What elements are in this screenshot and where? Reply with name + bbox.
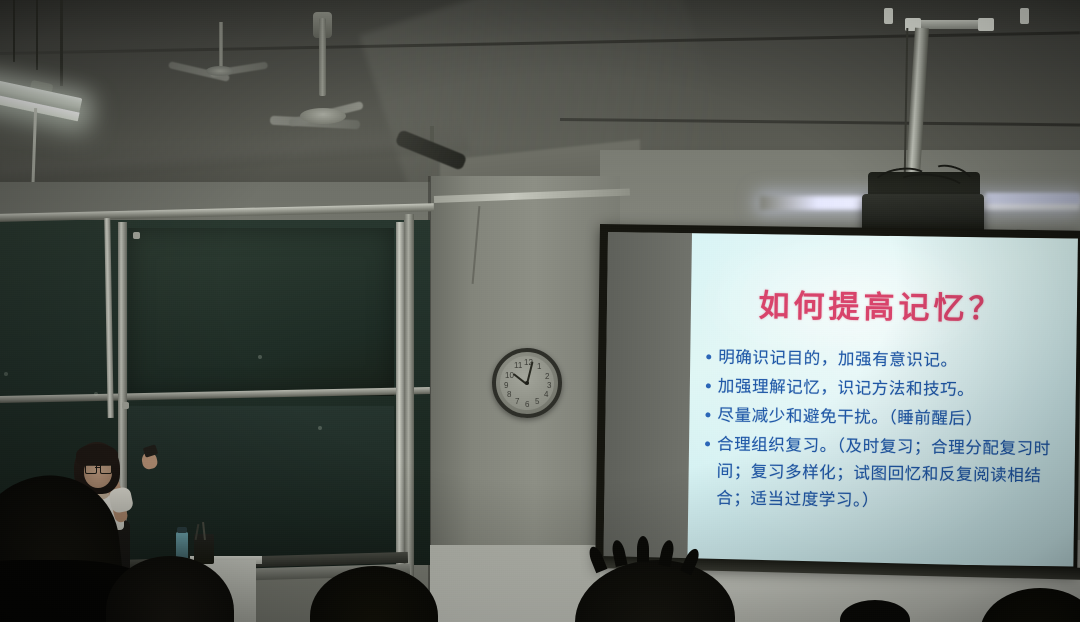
projector-mount <box>884 8 893 24</box>
slide-bullet: 加强理解记忆，识记方法和技巧。 <box>704 372 1068 404</box>
ceiling-beam <box>0 117 470 184</box>
glasses-icon <box>85 464 112 472</box>
clock-number: 4 <box>544 390 548 399</box>
blackboard-frame <box>404 214 414 586</box>
slide-title: 如何提高记忆？ <box>691 279 1072 329</box>
chalk-mark <box>94 392 98 396</box>
slide-bullet: 合理组织复习。（及时复习；合理分配复习时间；复习多样化；试图回忆和反复阅读相结合… <box>702 430 1067 516</box>
blackboard-clip <box>133 232 140 239</box>
slide-bullet: 明确识记目的，加强有意识记。 <box>704 343 1068 375</box>
slide-content: 如何提高记忆？ 明确识记目的，加强有意识记。 加强理解记忆，识记方法和技巧。 尽… <box>687 233 1078 566</box>
screen-surface: 如何提高记忆？ 明确识记目的，加强有意识记。 加强理解记忆，识记方法和技巧。 尽… <box>603 232 1078 567</box>
clock-number: 3 <box>547 381 551 390</box>
slide-bullet-list: 明确识记目的，加强有意识记。 加强理解记忆，识记方法和技巧。 尽量减少和避免干扰… <box>702 343 1068 518</box>
clock-face: 12 1 2 3 4 5 6 7 8 9 10 11 <box>500 356 554 410</box>
clock-number: 7 <box>515 397 519 406</box>
wall-clock: 12 1 2 3 4 5 6 7 8 9 10 11 <box>492 348 562 418</box>
chalk-mark <box>4 372 8 376</box>
projection-screen: 如何提高记忆？ 明确识记目的，加强有意识记。 加强理解记忆，识记方法和技巧。 尽… <box>600 224 1080 568</box>
clock-number: 10 <box>505 371 514 380</box>
clock-number: 9 <box>504 381 508 390</box>
teacher-hair <box>76 444 118 466</box>
chalk-mark <box>258 355 262 359</box>
clock-number: 5 <box>535 397 539 406</box>
clock-number: 1 <box>537 362 541 371</box>
projector-mount <box>1020 8 1029 24</box>
clock-number: 6 <box>525 400 529 409</box>
classroom-photo: 12 1 2 3 4 5 6 7 8 9 10 11 <box>0 0 1080 622</box>
slide-bullet: 尽量减少和避免干扰。（睡前醒后） <box>703 401 1067 433</box>
clock-number: 8 <box>507 390 511 399</box>
blackboard-panel <box>128 406 394 576</box>
bottle-cap <box>177 527 187 533</box>
clock-number: 2 <box>545 372 549 381</box>
blackboard-clip <box>122 402 129 409</box>
projector-plate <box>978 18 994 31</box>
light-tube-glow <box>986 193 1080 204</box>
clock-center-pin <box>525 381 529 385</box>
blackboard-panel <box>128 228 394 396</box>
clock-number: 11 <box>514 361 522 370</box>
screen-unlit-band <box>603 232 692 561</box>
chalk-mark <box>318 426 322 430</box>
